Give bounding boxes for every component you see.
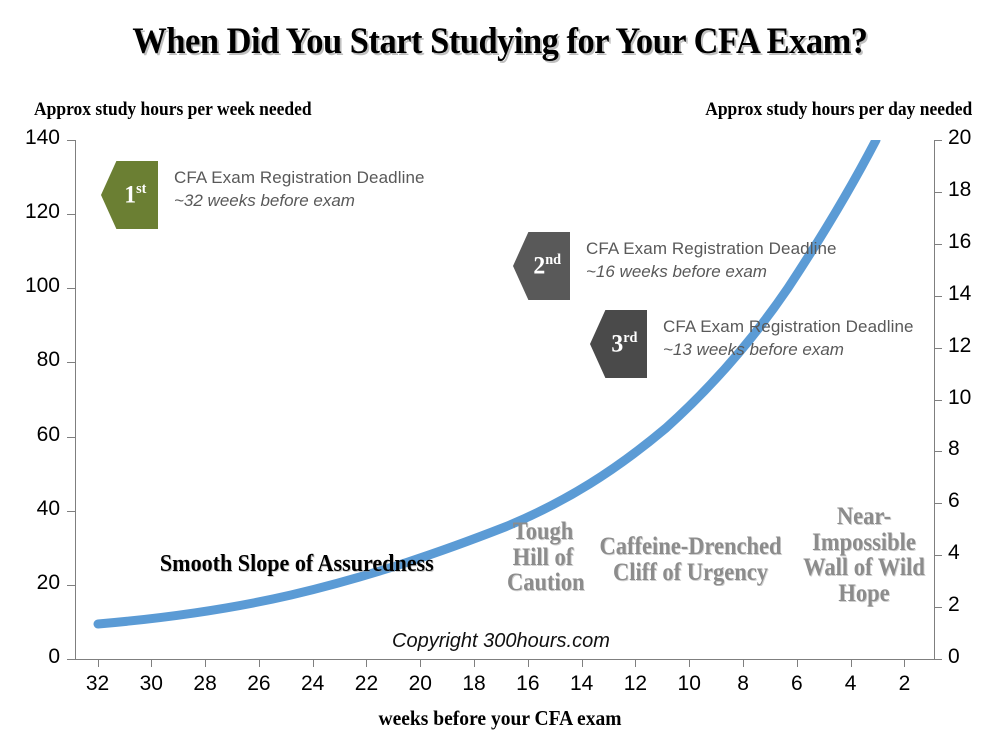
badge-copy-2: CFA Exam Registration Deadline ~16 weeks… <box>586 239 837 282</box>
badge-deadline-2: 2nd CFA Exam Registration Deadline ~16 w… <box>508 227 574 305</box>
y-tick-label-left: 120 <box>8 200 60 224</box>
y-tick-label-right: 8 <box>948 437 998 461</box>
y-tick-label-right: 16 <box>948 230 998 254</box>
x-axis-line <box>75 659 935 660</box>
y-tick-right <box>934 555 942 556</box>
x-tick <box>528 659 529 667</box>
band-caption-line: Cliff of Urgency <box>598 560 783 586</box>
band-caption-wall-of-hope: Near- Impossible Wall of Wild Hope <box>799 504 929 606</box>
x-tick-label: 24 <box>293 672 333 696</box>
x-tick <box>259 659 260 667</box>
y-tick-right <box>934 348 942 349</box>
x-tick <box>743 659 744 667</box>
x-tick-label: 4 <box>831 672 871 696</box>
badge-copy-1: CFA Exam Registration Deadline ~32 weeks… <box>174 168 425 211</box>
band-caption-line: Tough <box>507 519 579 545</box>
x-tick-label: 20 <box>400 672 440 696</box>
x-tick-label: 28 <box>185 672 225 696</box>
y-tick-label-right: 18 <box>948 178 998 202</box>
y-tick-left <box>67 362 75 363</box>
x-tick-label: 2 <box>884 672 924 696</box>
right-axis-caption: Approx study hours per day needed <box>705 99 972 121</box>
x-tick <box>313 659 314 667</box>
x-tick-label: 16 <box>508 672 548 696</box>
y-tick-label-right: 2 <box>948 593 998 617</box>
x-tick <box>366 659 367 667</box>
y-tick-left <box>67 214 75 215</box>
y-tick-label-left: 0 <box>8 645 60 669</box>
x-tick-label: 30 <box>131 672 171 696</box>
x-tick-label: 18 <box>454 672 494 696</box>
x-tick <box>689 659 690 667</box>
badge-rank-suffix: nd <box>546 252 562 268</box>
band-caption-line: Impossible <box>799 530 929 556</box>
y-tick-label-left: 60 <box>8 423 60 447</box>
badge-rank-suffix: rd <box>623 330 637 346</box>
y-tick-right <box>934 244 942 245</box>
badge-shape-3: 3rd <box>585 305 651 383</box>
x-tick <box>205 659 206 667</box>
x-tick <box>797 659 798 667</box>
y-tick-label-right: 6 <box>948 489 998 513</box>
y-tick-label-left: 80 <box>8 348 60 372</box>
badge-deadline-title: CFA Exam Registration Deadline <box>586 239 837 259</box>
badge-deadline-1: 1st CFA Exam Registration Deadline ~32 w… <box>96 156 162 234</box>
x-tick <box>904 659 905 667</box>
badge-rank-2: 2nd <box>534 252 562 280</box>
y-tick-left <box>67 511 75 512</box>
y-tick-left <box>67 437 75 438</box>
x-tick-label: 8 <box>723 672 763 696</box>
y-tick-left <box>67 288 75 289</box>
band-caption-tough-hill: Tough Hill of Caution <box>507 519 579 596</box>
x-axis-title: weeks before your CFA exam <box>35 706 965 731</box>
band-caption-caffeine-cliff: Caffeine-Drenched Cliff of Urgency <box>598 534 783 585</box>
y-tick-label-right: 10 <box>948 386 998 410</box>
badge-rank-suffix: st <box>136 181 146 197</box>
band-caption-line: Hill of <box>507 545 579 571</box>
band-caption-line: Hope <box>799 581 929 607</box>
band-caption-line: Near- <box>799 504 929 530</box>
badge-rank-number: 1 <box>125 181 137 208</box>
page-title: When Did You Start Studying for Your CFA… <box>35 20 965 63</box>
y-tick-right <box>934 400 942 401</box>
left-axis-caption: Approx study hours per week needed <box>34 99 312 121</box>
x-tick <box>851 659 852 667</box>
y-tick-label-right: 12 <box>948 334 998 358</box>
y-axis-left-line <box>75 140 76 659</box>
copyright-note: Copyright 300hours.com <box>392 630 610 653</box>
y-tick-right <box>934 451 942 452</box>
badge-deadline-detail: ~32 weeks before exam <box>174 191 425 211</box>
badge-deadline-3: 3rd CFA Exam Registration Deadline ~13 w… <box>585 305 651 383</box>
y-tick-label-right: 20 <box>948 126 998 150</box>
badge-deadline-title: CFA Exam Registration Deadline <box>663 317 914 337</box>
x-tick <box>151 659 152 667</box>
x-tick-label: 10 <box>669 672 709 696</box>
band-caption-line: Caution <box>507 570 579 596</box>
y-tick-label-right: 4 <box>948 541 998 565</box>
y-tick-right <box>934 296 942 297</box>
badge-deadline-title: CFA Exam Registration Deadline <box>174 168 425 188</box>
y-tick-left <box>67 585 75 586</box>
smooth-slope-annotation: Smooth Slope of Assuredness <box>160 551 434 578</box>
badge-copy-3: CFA Exam Registration Deadline ~13 weeks… <box>663 317 914 360</box>
y-tick-right <box>934 140 942 141</box>
badge-deadline-detail: ~16 weeks before exam <box>586 262 837 282</box>
x-tick <box>635 659 636 667</box>
y-tick-right <box>934 607 942 608</box>
x-tick-label: 14 <box>562 672 602 696</box>
x-tick-label: 32 <box>78 672 118 696</box>
x-tick-label: 22 <box>346 672 386 696</box>
badge-rank-number: 3 <box>612 330 624 357</box>
badge-shape-2: 2nd <box>508 227 574 305</box>
x-tick <box>98 659 99 667</box>
badge-shape-1: 1st <box>96 156 162 234</box>
y-tick-label-right: 14 <box>948 282 998 306</box>
y-tick-right <box>934 659 942 660</box>
x-tick-label: 26 <box>239 672 279 696</box>
y-tick-label-left: 20 <box>8 571 60 595</box>
x-tick-label: 12 <box>615 672 655 696</box>
badge-rank-number: 2 <box>534 252 546 279</box>
x-tick <box>582 659 583 667</box>
y-tick-left <box>67 140 75 141</box>
x-tick <box>420 659 421 667</box>
y-tick-right <box>934 503 942 504</box>
y-tick-left <box>67 659 75 660</box>
y-tick-right <box>934 192 942 193</box>
y-tick-label-left: 40 <box>8 497 60 521</box>
badge-rank-3: 3rd <box>612 330 638 358</box>
badge-rank-1: 1st <box>125 181 147 209</box>
y-tick-label-left: 100 <box>8 274 60 298</box>
x-tick-label: 6 <box>777 672 817 696</box>
band-caption-line: Wall of Wild <box>799 555 929 581</box>
badge-deadline-detail: ~13 weeks before exam <box>663 340 914 360</box>
y-tick-label-left: 140 <box>8 126 60 150</box>
band-caption-line: Caffeine-Drenched <box>598 534 783 560</box>
x-tick <box>474 659 475 667</box>
y-tick-label-right: 0 <box>948 645 998 669</box>
